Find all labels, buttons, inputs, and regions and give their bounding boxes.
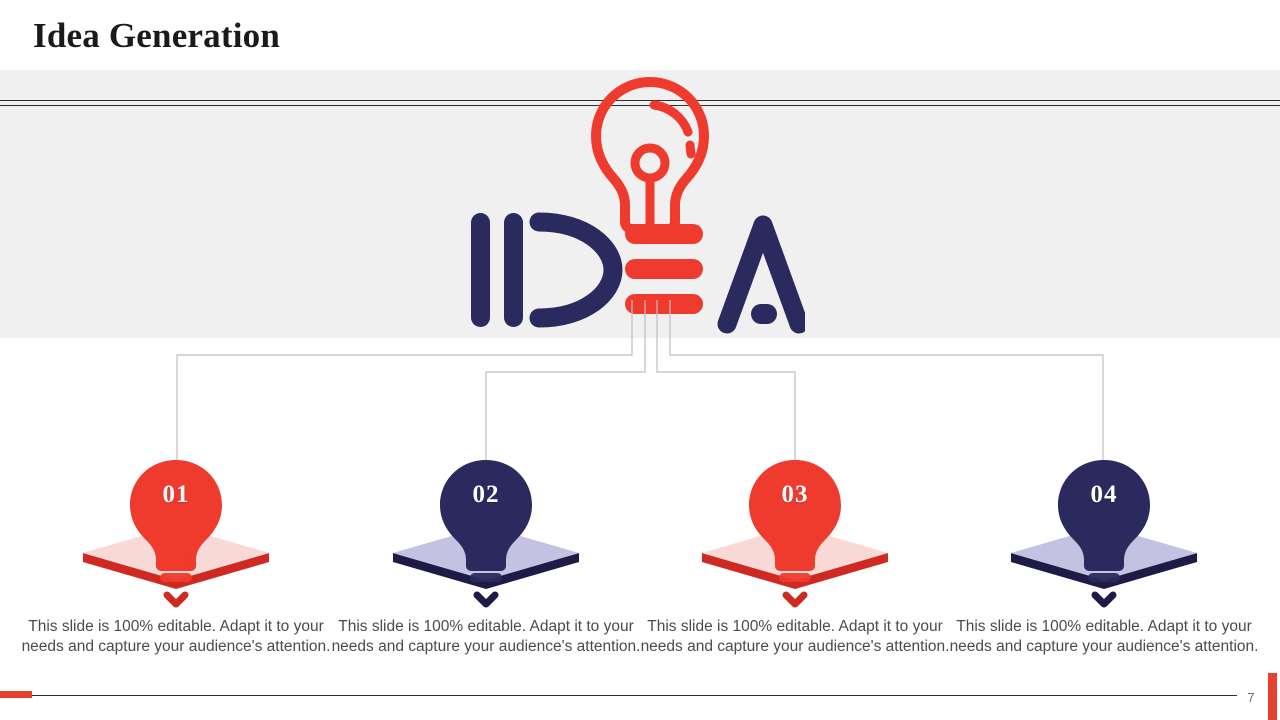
pin-caption-1: This slide is 100% editable. Adapt it to… (21, 617, 331, 656)
lightbulb-pin-icon-3 (700, 450, 890, 610)
page-number: 7 (1240, 690, 1262, 705)
pin-column-2[interactable]: 02 This slide is 100% editable. Adapt it… (331, 450, 641, 690)
footer-accent-bar (0, 691, 32, 698)
right-edge-accent-bar (1268, 673, 1277, 720)
pin-column-1[interactable]: 01 This slide is 100% editable. Adapt it… (21, 450, 331, 690)
pin-graphic-3[interactable]: 03 (640, 450, 950, 610)
pin-caption-4: This slide is 100% editable. Adapt it to… (949, 617, 1259, 656)
pin-column-4[interactable]: 04 This slide is 100% editable. Adapt it… (949, 450, 1259, 690)
footer-rule (0, 695, 1237, 696)
lightbulb-pin-icon-1 (81, 450, 271, 610)
pin-caption-3: This slide is 100% editable. Adapt it to… (640, 617, 950, 656)
pin-column-3[interactable]: 03 This slide is 100% editable. Adapt it… (640, 450, 950, 690)
pin-graphic-1[interactable]: 01 (21, 450, 331, 610)
slide-canvas: Idea Generation (0, 0, 1280, 720)
lightbulb-pin-icon-4 (1009, 450, 1199, 610)
letter-e-bar-2 (625, 259, 703, 279)
pin-graphic-4[interactable]: 04 (949, 450, 1259, 610)
page-title: Idea Generation (33, 16, 280, 56)
pin-caption-2: This slide is 100% editable. Adapt it to… (331, 617, 641, 656)
letter-e-bar-1 (625, 224, 703, 244)
title-bar: Idea Generation (0, 0, 1280, 70)
pin-graphic-2[interactable]: 02 (331, 450, 641, 610)
lightbulb-pin-icon-2 (391, 450, 581, 610)
